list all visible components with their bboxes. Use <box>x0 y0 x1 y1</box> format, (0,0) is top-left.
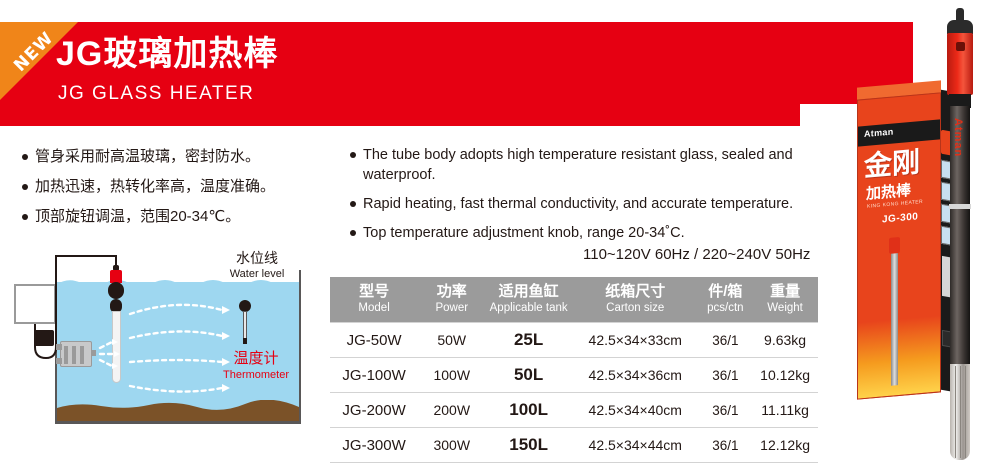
heater-product-hero: Atman <box>943 8 977 456</box>
feature-item: The tube body adopts high temperature re… <box>350 145 800 185</box>
thermometer-icon <box>239 300 251 344</box>
features-english: The tube body adopts high temperature re… <box>350 145 800 252</box>
water-level-label-cn: 水位线 <box>208 250 306 267</box>
header-banner-lower <box>0 104 800 126</box>
cell-weight: 9.63kg <box>752 323 818 358</box>
feature-item: Rapid heating, fast thermal conductivity… <box>350 194 800 214</box>
bullet-dot-icon <box>22 214 28 220</box>
specification-table: 型号 Model 功率 Power 适用鱼缸 Applicable tank 纸… <box>330 277 818 463</box>
feature-text: 加热迅速，热转化率高，温度准确。 <box>35 176 275 197</box>
cell-weight: 11.11kg <box>752 393 818 428</box>
table-row: JG-300W 300W 150L 42.5×34×44cm 36/1 12.1… <box>330 428 818 463</box>
aquarium-diagram: 水位线 Water level 温度计 Thermometer <box>8 252 320 448</box>
water-level-label: 水位线 Water level <box>208 250 306 281</box>
feature-text: 管身采用耐高温玻璃，密封防水。 <box>35 146 260 167</box>
rod-brand-label: Atman <box>952 118 964 157</box>
cell-tank: 100L <box>485 393 572 428</box>
thermometer-label-en: Thermometer <box>204 368 308 382</box>
feature-item: 顶部旋钮调温，范围20-34℃。 <box>22 206 342 227</box>
features-chinese: 管身采用耐高温玻璃，密封防水。 加热迅速，热转化率高，温度准确。 顶部旋钮调温，… <box>22 146 342 236</box>
feature-item: 管身采用耐高温玻璃，密封防水。 <box>22 146 342 167</box>
feature-text: Rapid heating, fast thermal conductivity… <box>363 194 793 214</box>
bullet-dot-icon <box>350 152 356 158</box>
cell-carton: 42.5×34×44cm <box>572 428 699 463</box>
bullet-dot-icon <box>350 230 356 236</box>
feature-text: The tube body adopts high temperature re… <box>363 145 800 185</box>
feature-item: 加热迅速，热转化率高，温度准确。 <box>22 176 342 197</box>
cell-power: 200W <box>418 393 485 428</box>
cell-model: JG-50W <box>330 323 418 358</box>
feature-text: Top temperature adjustment knob, range 2… <box>363 223 685 243</box>
cell-model: JG-300W <box>330 428 418 463</box>
cell-pcs: 36/1 <box>699 358 753 393</box>
rod-heating-element-icon <box>965 366 966 458</box>
package-rod-tube-icon <box>891 253 898 386</box>
cell-weight: 10.12kg <box>752 358 818 393</box>
cell-carton: 42.5×34×36cm <box>572 358 699 393</box>
cell-weight: 12.12kg <box>752 428 818 463</box>
column-header-weight: 重量 Weight <box>752 277 818 323</box>
cell-power: 300W <box>418 428 485 463</box>
cell-tank: 50L <box>485 358 572 393</box>
page-title-cn: JG玻璃加热棒 <box>56 34 278 74</box>
feature-text: 顶部旋钮调温，范围20-34℃。 <box>35 206 240 227</box>
column-header-power: 功率 Power <box>418 277 485 323</box>
rod-suction-ring-icon <box>949 204 971 209</box>
cell-pcs: 36/1 <box>699 393 753 428</box>
cell-tank: 150L <box>485 428 572 463</box>
package-model-label: JG-300 <box>882 211 918 225</box>
bullet-dot-icon <box>350 201 356 207</box>
rod-cap-top-icon <box>947 20 973 34</box>
cell-pcs: 36/1 <box>699 428 753 463</box>
voltage-spec: 110~120V 60Hz / 220~240V 50Hz <box>583 246 810 263</box>
feature-item: Top temperature adjustment knob, range 2… <box>350 223 800 243</box>
thermometer-tip-icon <box>243 338 247 344</box>
product-spec-sheet: NEW JG玻璃加热棒 JG GLASS HEATER 管身采用耐高温玻璃，密封… <box>0 0 1000 468</box>
cell-model: JG-200W <box>330 393 418 428</box>
package-title-cn: 金刚 <box>864 147 920 182</box>
bullet-dot-icon <box>22 154 28 160</box>
cell-carton: 42.5×34×40cm <box>572 393 699 428</box>
package-box-front: Atman 金刚 加热棒 KING KONG HEATER JG-300 <box>857 92 941 399</box>
water-level-label-en: Water level <box>208 267 306 281</box>
cell-tank: 25L <box>485 323 572 358</box>
thermometer-label-cn: 温度计 <box>204 350 308 368</box>
table-row: JG-50W 50W 25L 42.5×34×33cm 36/1 9.63kg <box>330 323 818 358</box>
thermometer-label: 温度计 Thermometer <box>204 350 308 382</box>
column-header-tank: 适用鱼缸 Applicable tank <box>485 277 572 323</box>
bullet-dot-icon <box>22 184 28 190</box>
cell-power: 100W <box>418 358 485 393</box>
table-row: JG-100W 100W 50L 42.5×34×36cm 36/1 10.12… <box>330 358 818 393</box>
cell-model: JG-100W <box>330 358 418 393</box>
rod-heating-element-icon <box>960 366 961 458</box>
table-header-row: 型号 Model 功率 Power 适用鱼缸 Applicable tank 纸… <box>330 277 818 323</box>
page-title-en: JG GLASS HEATER <box>58 82 254 106</box>
rod-dial-icon <box>956 42 965 51</box>
product-photo: Atman 金刚 加热棒 KING KONG HEATER JG-300 Atm… <box>845 0 1000 468</box>
cell-power: 50W <box>418 323 485 358</box>
rod-heating-element-icon <box>955 366 956 458</box>
cell-pcs: 36/1 <box>699 323 753 358</box>
cell-carton: 42.5×34×33cm <box>572 323 699 358</box>
column-header-model: 型号 Model <box>330 277 418 323</box>
table-row: JG-200W 200W 100L 42.5×34×40cm 36/1 11.1… <box>330 393 818 428</box>
column-header-carton: 纸箱尺寸 Carton size <box>572 277 699 323</box>
package-rod-cap-icon <box>889 237 900 254</box>
column-header-pcs: 件/箱 pcs/ctn <box>699 277 753 323</box>
package-product-illustration <box>888 237 901 388</box>
